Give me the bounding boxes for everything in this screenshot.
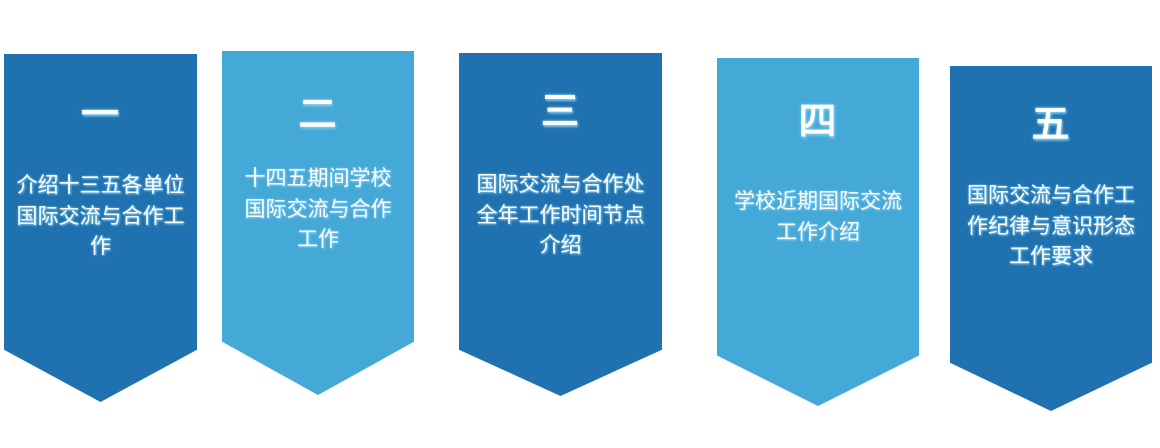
banner-item-5[interactable]: 五 国际交流与合作工作纪律与意识形态工作要求	[950, 66, 1152, 411]
banner-shape-1	[4, 54, 197, 402]
banner-item-2[interactable]: 二 十四五期间学校国际交流与合作工作	[222, 51, 414, 395]
banner-item-1[interactable]: 一 介绍十三五各单位国际交流与合作工作	[4, 54, 197, 402]
banner-item-4[interactable]: 四 学校近期国际交流工作介绍	[717, 58, 919, 406]
banner-board: 一 介绍十三五各单位国际交流与合作工作 二 十四五期间学校国际交流与合作工作 三…	[0, 0, 1160, 448]
banner-shape-4	[717, 58, 919, 406]
banner-shape-5	[950, 66, 1152, 411]
banner-shape-3	[459, 53, 662, 396]
banner-item-3[interactable]: 三 国际交流与合作处全年工作时间节点介绍	[459, 53, 662, 396]
banner-shape-2	[222, 51, 414, 395]
